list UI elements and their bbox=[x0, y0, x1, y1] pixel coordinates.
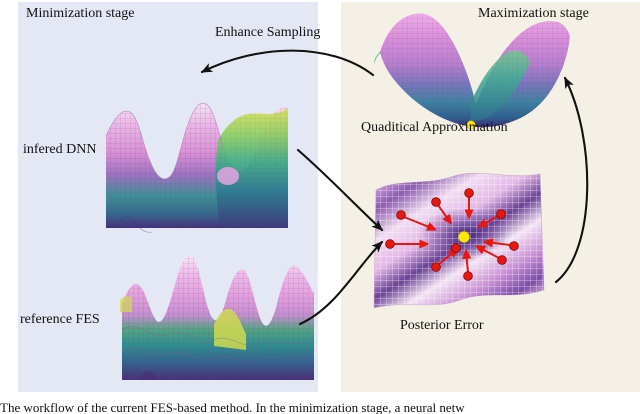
reference-fes-surface bbox=[118, 238, 318, 390]
quaditical-approximation-label: Quaditical Approximation bbox=[361, 120, 508, 136]
minimization-stage-title: Minimization stage bbox=[26, 6, 134, 22]
figure-caption: The workflow of the current FES-based me… bbox=[0, 400, 640, 414]
enhance-sampling-label: Enhance Sampling bbox=[215, 25, 320, 41]
optimum-marker bbox=[459, 232, 470, 243]
quadratic-bowl-surface bbox=[372, 8, 572, 133]
figure-container: Minimization stage Maximization stage En… bbox=[0, 0, 640, 414]
posterior-error-label: Posterior Error bbox=[400, 318, 484, 334]
posterior-error-surface bbox=[368, 172, 548, 320]
reference-fes-label: reference FES bbox=[20, 312, 100, 328]
maximization-stage-title: Maximization stage bbox=[478, 6, 589, 22]
infered-dnn-surface bbox=[100, 78, 290, 238]
infered-dnn-label: infered DNN bbox=[23, 142, 96, 158]
